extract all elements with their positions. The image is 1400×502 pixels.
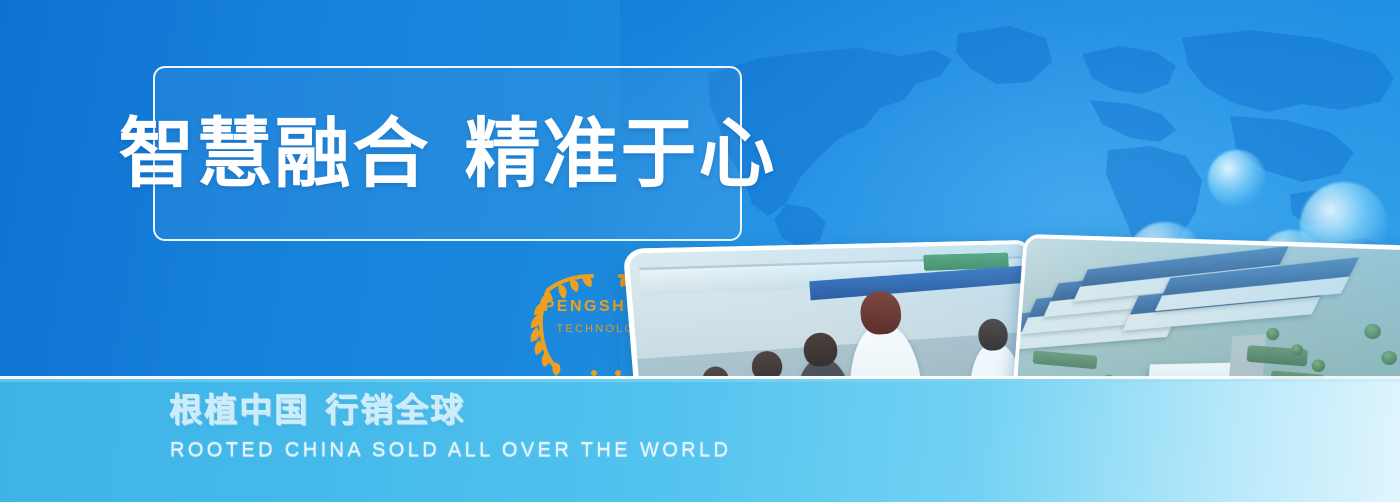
page-title: 智慧融合精准于心 bbox=[119, 116, 777, 192]
tagline-chinese-part-1: 根植中国 bbox=[170, 391, 310, 430]
headline-part-2: 精准于心 bbox=[465, 109, 777, 198]
tagline-group: 根植中国行销全球 ROOTED CHINA SOLD ALL OVER THE … bbox=[170, 392, 730, 462]
headline-frame: 智慧融合精准于心 bbox=[153, 66, 742, 241]
tagline-chinese: 根植中国行销全球 bbox=[170, 392, 730, 430]
tagline-english: ROOTED CHINA SOLD ALL OVER THE WORLD bbox=[170, 439, 730, 462]
tagline-chinese-part-2: 行销全球 bbox=[326, 391, 466, 430]
divider-accent bbox=[0, 379, 1400, 382]
promotional-banner: 智慧融合精准于心 bbox=[0, 0, 1400, 502]
headline-part-1: 智慧融合 bbox=[119, 109, 431, 198]
